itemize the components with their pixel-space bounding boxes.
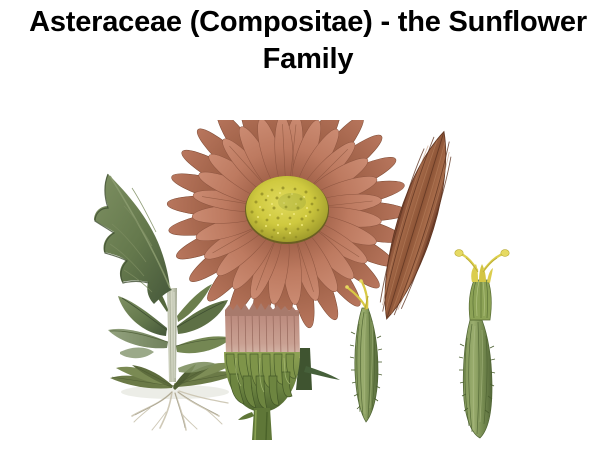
illustration-part-involucre-side-view xyxy=(224,303,300,440)
botanical-illustration xyxy=(0,120,616,440)
slide-canvas: Asteraceae (Compositae) - the Sunflower … xyxy=(0,0,616,450)
page-title-line-1: Asteraceae (Compositae) - the Sunflower xyxy=(8,4,608,41)
serrate-upper-leaf xyxy=(94,174,172,304)
disc-center xyxy=(245,176,329,244)
disc-floret-corolla xyxy=(469,264,493,320)
page-title: Asteraceae (Compositae) - the Sunflower … xyxy=(8,4,608,78)
illustration-part-disc-floret xyxy=(455,250,509,438)
page-title-line-2: Family xyxy=(8,41,608,78)
involucral-bracts xyxy=(224,352,300,412)
